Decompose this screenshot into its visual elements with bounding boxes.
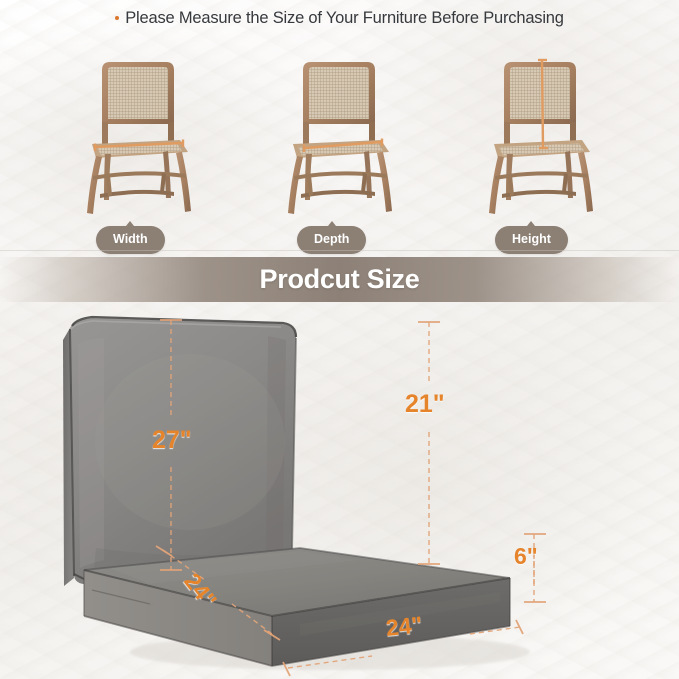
dimension-label-back-cushion-height: 21" xyxy=(405,392,445,417)
chair-label-height-text: Height xyxy=(512,232,551,246)
product-size-infographic: Please Measure the Size of Your Furnitur… xyxy=(0,0,679,679)
product-size-banner: Prodcut Size xyxy=(0,257,679,302)
dot-bullet-icon xyxy=(115,16,119,20)
chair-measure-row: Width xyxy=(0,48,679,248)
dimension-label-seat-width: 24" xyxy=(385,613,424,640)
page-headline: Please Measure the Size of Your Furnitur… xyxy=(0,9,679,28)
cushion-illustration xyxy=(0,302,679,679)
chair-illustration-depth xyxy=(263,48,413,223)
cushion-diagram: 6 Inches xyxy=(0,302,679,679)
chair-depth: Depth xyxy=(263,48,413,248)
chair-label-width-text: Width xyxy=(113,232,148,246)
banner-title: Prodcut Size xyxy=(260,264,420,295)
chair-illustration-width xyxy=(62,48,212,223)
chair-height: Height xyxy=(464,48,614,248)
section-divider xyxy=(0,250,679,251)
chair-width: Width xyxy=(62,48,212,248)
dimension-label-back-height: 27" xyxy=(152,428,192,453)
chair-illustration-height xyxy=(464,48,614,223)
headline-text: Please Measure the Size of Your Furnitur… xyxy=(125,9,564,27)
chair-label-depth-text: Depth xyxy=(314,232,349,246)
dimension-label-seat-thickness: 6" xyxy=(514,545,538,568)
